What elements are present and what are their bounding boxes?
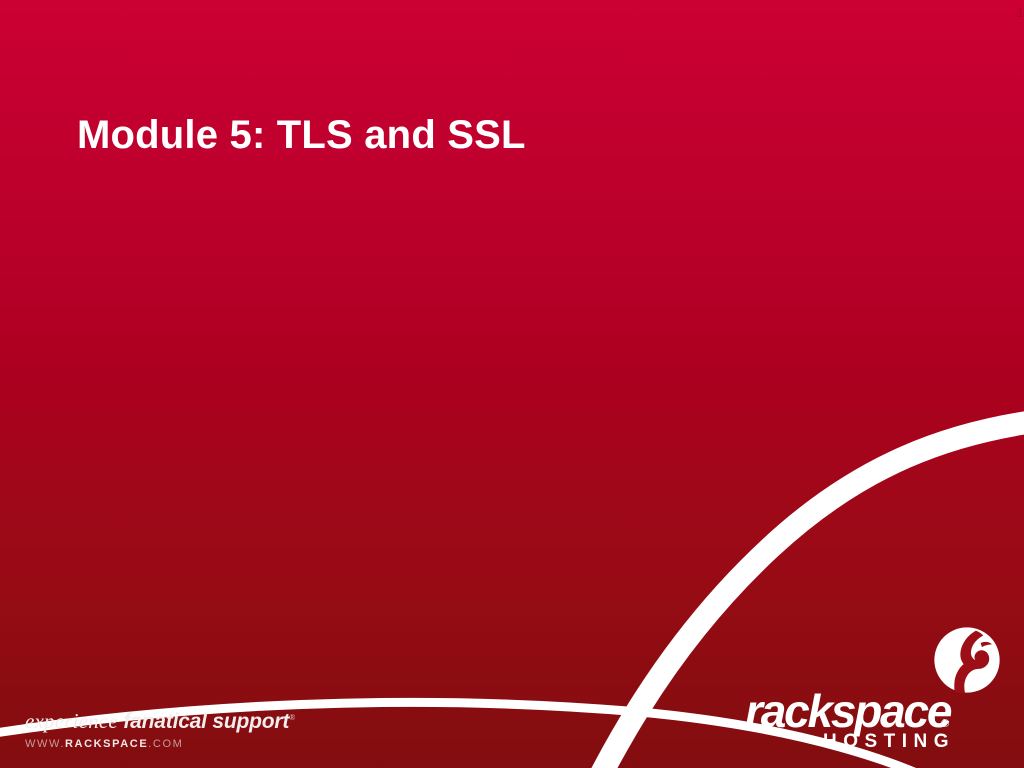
tagline-registered-icon: ® [289, 713, 295, 722]
tagline-block: experience fanatical support® WWW.RACKSP… [25, 711, 295, 750]
tagline-bold-words: fanatical support [123, 710, 289, 733]
logo-wordmark: rackspace [745, 688, 950, 734]
page-number: 1 [1017, 6, 1024, 19]
tagline-light-word: experience [25, 709, 123, 733]
rackspace-logo: rackspace ® HOSTING [745, 620, 1015, 760]
slide-canvas: 1 Module 5: TLS and SSL experience fanat… [0, 0, 1024, 768]
tagline: experience fanatical support® [25, 711, 295, 732]
page-title: Module 5: TLS and SSL [77, 112, 526, 158]
url-prefix: WWW. [25, 738, 65, 750]
url-brand: RACKSPACE [65, 738, 148, 750]
website-url: WWW.RACKSPACE.COM [25, 739, 295, 750]
logo-subtitle: HOSTING [823, 732, 955, 751]
logo-registered-icon: ® [941, 719, 949, 730]
url-suffix: .COM [148, 738, 183, 750]
